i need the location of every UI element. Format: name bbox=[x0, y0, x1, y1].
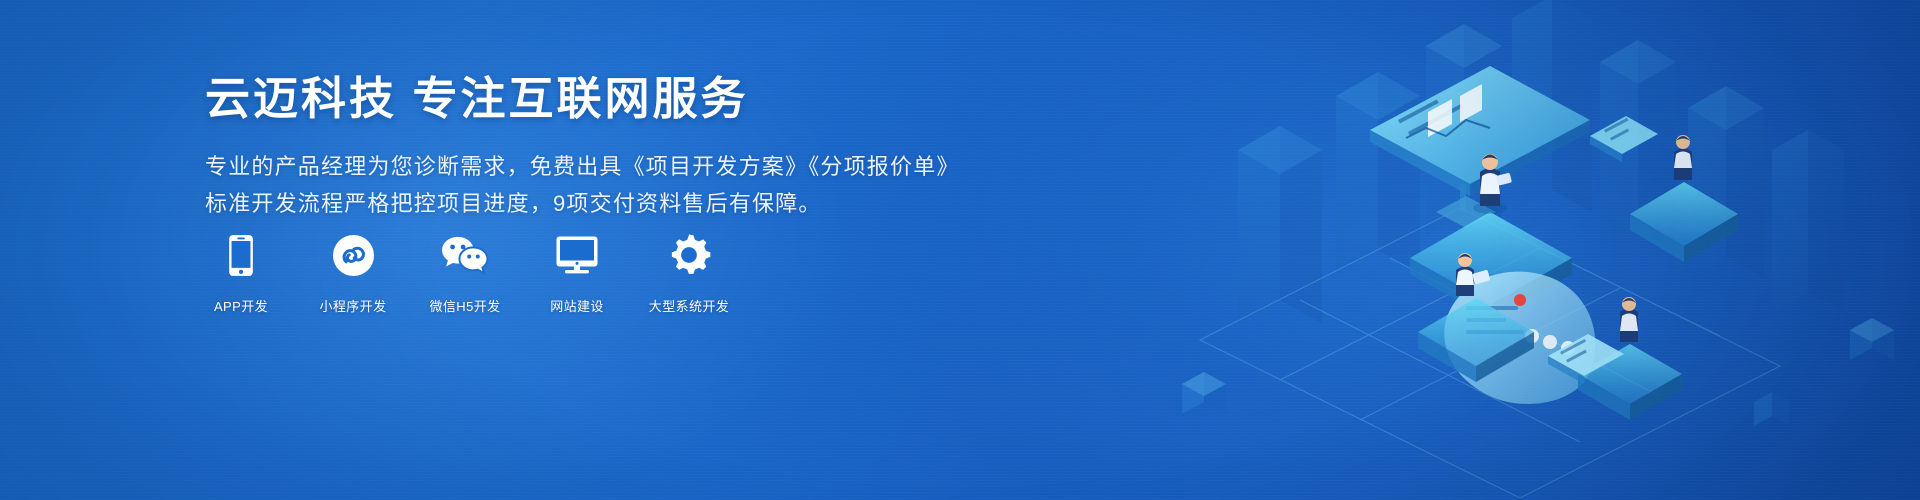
service-label: 大型系统开发 bbox=[649, 296, 729, 315]
service-item-app[interactable]: APP开发 bbox=[205, 232, 277, 315]
mobile-phone-icon bbox=[228, 232, 254, 278]
service-item-large-system[interactable]: 大型系统开发 bbox=[653, 232, 725, 315]
subtitle-line-2: 标准开发流程严格把控项目进度，9项交付资料售后有保障。 bbox=[205, 186, 985, 223]
hero-subtitle: 专业的产品经理为您诊断需求，免费出具《项目开发方案》《分项报价单》 标准开发流程… bbox=[205, 149, 985, 223]
service-list: APP开发 小程序开发 bbox=[205, 232, 725, 315]
hero-banner: 云迈科技 专注互联网服务 专业的产品经理为您诊断需求，免费出具《项目开发方案》《… bbox=[0, 0, 1920, 500]
service-label: 小程序开发 bbox=[319, 296, 386, 315]
wechat-icon bbox=[440, 232, 490, 278]
hero-copy: 云迈科技 专注互联网服务 专业的产品经理为您诊断需求，免费出具《项目开发方案》《… bbox=[205, 72, 985, 223]
monitor-icon bbox=[555, 232, 599, 278]
service-label: APP开发 bbox=[214, 296, 268, 315]
service-item-wechat-h5[interactable]: 微信H5开发 bbox=[429, 232, 501, 315]
mini-program-icon bbox=[332, 232, 375, 278]
service-item-miniprogram[interactable]: 小程序开发 bbox=[317, 232, 389, 315]
gear-icon bbox=[667, 232, 711, 278]
service-label: 网站建设 bbox=[550, 296, 604, 315]
service-item-website[interactable]: 网站建设 bbox=[541, 232, 613, 315]
service-label: 微信H5开发 bbox=[429, 296, 500, 315]
isometric-illustration bbox=[1160, 0, 1920, 500]
subtitle-line-1: 专业的产品经理为您诊断需求，免费出具《项目开发方案》《分项报价单》 bbox=[205, 149, 985, 186]
page-title: 云迈科技 专注互联网服务 bbox=[205, 72, 985, 127]
